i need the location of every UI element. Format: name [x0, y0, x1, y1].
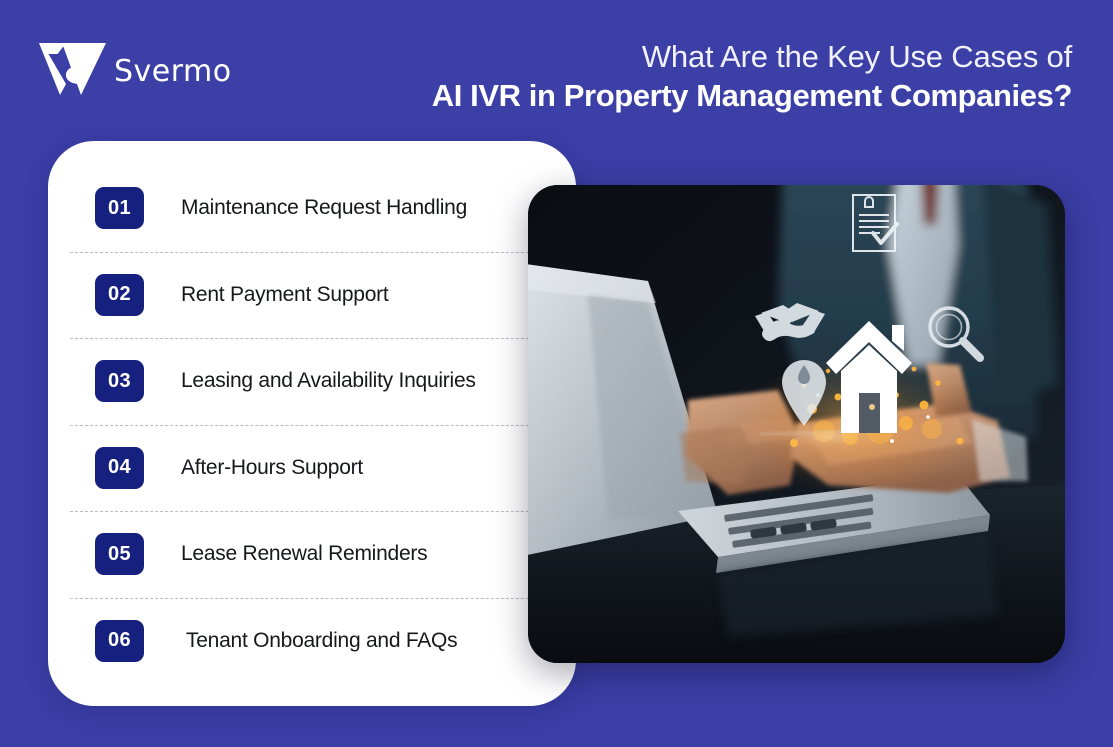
list-item[interactable]: 01 Maintenance Request Handling	[48, 165, 576, 252]
item-number-badge: 05	[95, 533, 144, 575]
use-cases-list: 01 Maintenance Request Handling 02 Rent …	[48, 141, 576, 684]
svermo-w-triangle-logo-icon	[36, 40, 110, 102]
brand-logo: Svermo	[36, 40, 232, 102]
use-cases-card: 01 Maintenance Request Handling 02 Rent …	[48, 141, 576, 706]
list-item[interactable]: 02 Rent Payment Support	[48, 252, 576, 339]
page-title: What Are the Key Use Cases of AI IVR in …	[432, 40, 1072, 113]
item-number-badge: 02	[95, 274, 144, 316]
item-label: Lease Renewal Reminders	[181, 542, 427, 566]
item-label: Leasing and Availability Inquiries	[181, 369, 476, 393]
page-title-line1: What Are the Key Use Cases of	[432, 40, 1072, 75]
list-item[interactable]: 03 Leasing and Availability Inquiries	[48, 338, 576, 425]
list-item[interactable]: 04 After-Hours Support	[48, 425, 576, 512]
hero-photo-illustration	[528, 185, 1065, 663]
item-number-badge: 03	[95, 360, 144, 402]
hero-photo	[528, 185, 1065, 663]
page-title-line2: AI IVR in Property Management Companies?	[432, 79, 1072, 114]
brand-name: Svermo	[114, 54, 232, 89]
item-label: Rent Payment Support	[181, 283, 388, 307]
list-item[interactable]: 05 Lease Renewal Reminders	[48, 511, 576, 598]
item-label: Maintenance Request Handling	[181, 196, 467, 220]
item-label: After-Hours Support	[181, 456, 363, 480]
item-number-badge: 01	[95, 187, 144, 229]
item-label: Tenant Onboarding and FAQs	[186, 629, 457, 653]
item-number-badge: 04	[95, 447, 144, 489]
item-number-badge: 06	[95, 620, 144, 662]
list-item[interactable]: 06 Tenant Onboarding and FAQs	[48, 598, 576, 685]
